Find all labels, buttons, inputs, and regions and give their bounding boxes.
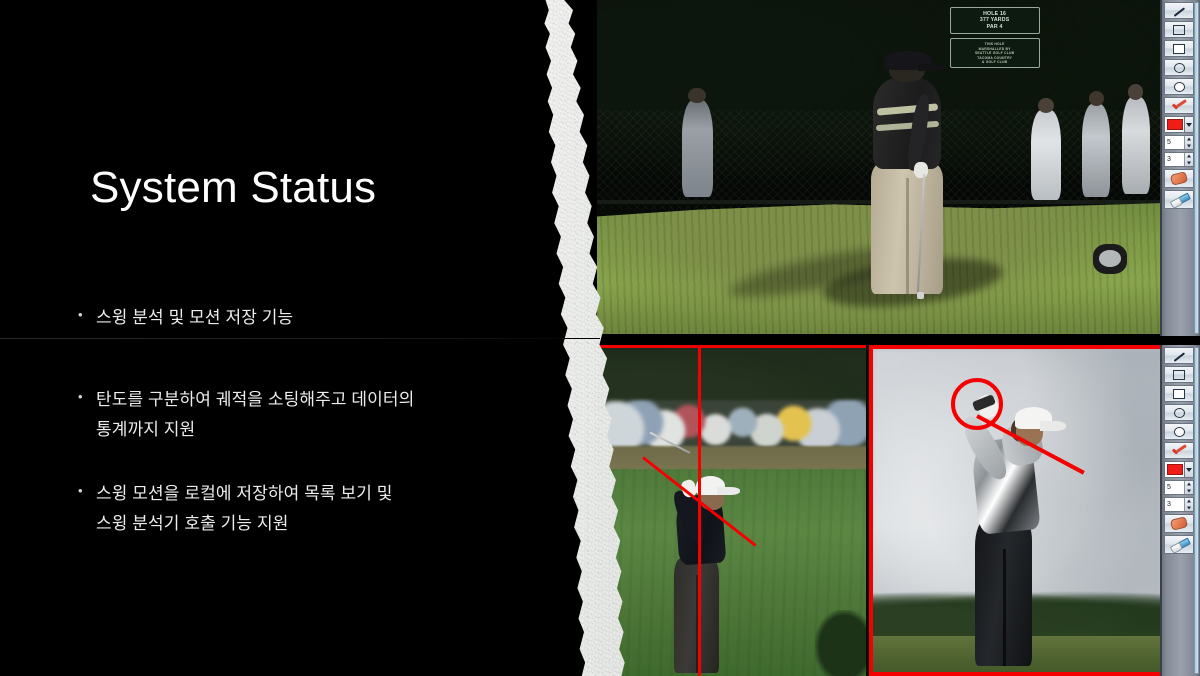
shape-weight-stepper[interactable]: 3 — [1164, 152, 1194, 167]
shape-weight-stepper[interactable]: 3 — [1164, 497, 1194, 512]
spectator — [682, 100, 713, 197]
hole-par-label: PAR 4 — [953, 24, 1037, 31]
course-hole-sign: HOLE 16 377 YARDS PAR 4 THIS HOLE MARSHA… — [950, 7, 1040, 73]
rectangle-tool-button[interactable] — [1164, 21, 1194, 38]
stepper-down-icon[interactable] — [1185, 505, 1193, 512]
list-item: • 스윙 모션을 로컬에 저장하여 목록 보기 및 스윙 분석기 호출 기능 지… — [78, 479, 548, 539]
filled-rectangle-tool-button[interactable] — [1164, 40, 1194, 57]
stepper-down-icon[interactable] — [1185, 143, 1193, 150]
checkmark-icon — [1171, 100, 1187, 112]
rectangle-outline-icon — [1173, 370, 1185, 380]
eraser-icon — [1171, 173, 1187, 184]
marshall-sign: THIS HOLE MARSHALLED BY SEATTLE GOLF CLU… — [950, 38, 1040, 68]
line-width-value: 5 — [1165, 136, 1184, 149]
eraser-icon — [1171, 518, 1187, 529]
shape-weight-value: 3 — [1165, 153, 1184, 166]
hands-highlight-circle-annotation[interactable] — [951, 378, 1003, 430]
circle-filled-icon — [1174, 82, 1185, 92]
filled-circle-tool-button[interactable] — [1164, 423, 1194, 440]
hole-yardage-label: 377 YARDS — [953, 17, 1037, 24]
filled-rectangle-tool-button[interactable] — [1164, 385, 1194, 402]
stepper-buttons[interactable] — [1184, 481, 1193, 494]
toolbar-scrollbar[interactable] — [1194, 2, 1199, 334]
bullet-marker: • — [78, 303, 96, 327]
circle-tool-button[interactable] — [1164, 404, 1194, 421]
spectator — [1031, 110, 1060, 200]
bullet-marker: • — [78, 385, 96, 409]
clear-tool-button[interactable] — [1164, 535, 1194, 554]
color-picker[interactable] — [1164, 116, 1194, 133]
toolbar-buttons: 5 3 — [1164, 347, 1194, 556]
circle-tool-button[interactable] — [1164, 59, 1194, 76]
slide-text-column: System Status • 스윙 분석 및 모션 저장 기능 • 탄도를 구… — [0, 0, 600, 676]
rectangle-filled-icon — [1173, 389, 1185, 399]
golf-glove — [914, 162, 928, 179]
golf-bag — [1093, 244, 1127, 274]
page-title: System Status — [90, 164, 376, 212]
cap-brim — [717, 487, 740, 496]
bullet-marker: • — [78, 479, 96, 503]
list-item: • 탄도를 구분하여 궤적을 소팅해주고 데이터의 통계까지 지원 — [78, 385, 548, 445]
down-the-line-swing-panel — [597, 345, 869, 676]
checkmark-icon — [1171, 445, 1187, 457]
line-icon — [1172, 348, 1187, 363]
spectator — [1122, 97, 1150, 194]
golfer-at-address — [862, 53, 952, 293]
club-head — [917, 292, 924, 299]
eraser-tool-button[interactable] — [1164, 514, 1194, 533]
color-swatch[interactable] — [1167, 119, 1183, 130]
color-swatch[interactable] — [1167, 464, 1183, 475]
tee-shot-capture-panel: HOLE 16 377 YARDS PAR 4 THIS HOLE MARSHA… — [597, 0, 1200, 336]
line-tool-button[interactable] — [1164, 347, 1194, 364]
line-tool-button[interactable] — [1164, 2, 1194, 19]
panel-separator — [866, 345, 869, 676]
rectangle-filled-icon — [1173, 44, 1185, 54]
eraser-tool-button[interactable] — [1164, 169, 1194, 188]
bullet-text: 스윙 모션을 로컬에 저장하여 목록 보기 및 스윙 분석기 호출 기능 지원 — [96, 479, 393, 539]
line-width-stepper[interactable]: 5 — [1164, 480, 1194, 495]
stepper-down-icon[interactable] — [1185, 488, 1193, 495]
spectator — [1082, 104, 1110, 198]
gallery-crowd — [600, 400, 869, 452]
rectangle-outline-icon — [1173, 25, 1185, 35]
face-on-backswing-panel — [869, 345, 1166, 676]
stepper-buttons[interactable] — [1184, 153, 1193, 166]
color-dropdown-button[interactable] — [1185, 116, 1194, 133]
golfer-leg-split — [1003, 549, 1006, 665]
vertical-alignment-line-annotation[interactable] — [698, 348, 701, 676]
cap-brim — [918, 64, 945, 71]
cap-brim — [1040, 421, 1066, 431]
color-swatch-box[interactable] — [1164, 116, 1185, 133]
brush-icon — [1171, 539, 1188, 551]
toolbar-scrollbar[interactable] — [1194, 347, 1199, 674]
circle-outline-icon — [1174, 408, 1185, 418]
clear-tool-button[interactable] — [1164, 190, 1194, 209]
color-picker[interactable] — [1164, 461, 1194, 478]
line-icon — [1172, 3, 1187, 18]
circle-outline-icon — [1174, 63, 1185, 73]
toolbar-buttons: 5 3 — [1164, 2, 1194, 211]
golfer-leg-split — [906, 178, 909, 293]
check-tool-button[interactable] — [1164, 442, 1194, 459]
line-width-stepper[interactable]: 5 — [1164, 135, 1194, 150]
circle-filled-icon — [1174, 427, 1185, 437]
brush-icon — [1171, 194, 1188, 206]
stepper-down-icon[interactable] — [1185, 160, 1193, 167]
line-width-value: 5 — [1165, 481, 1184, 494]
color-dropdown-button[interactable] — [1185, 461, 1194, 478]
drawing-toolbar-top: 5 3 — [1160, 0, 1200, 336]
chevron-down-icon — [1186, 468, 1192, 472]
tee-shot-video: HOLE 16 377 YARDS PAR 4 THIS HOLE MARSHA… — [597, 0, 1161, 334]
list-item: • 스윙 분석 및 모션 저장 기능 — [78, 303, 548, 333]
rectangle-tool-button[interactable] — [1164, 366, 1194, 383]
bullet-list: • 스윙 분석 및 모션 저장 기능 • 탄도를 구분하여 궤적을 소팅해주고 … — [78, 303, 548, 539]
check-tool-button[interactable] — [1164, 97, 1194, 114]
stepper-buttons[interactable] — [1184, 498, 1193, 511]
hole-number-label: HOLE 16 — [953, 11, 1037, 18]
presentation-slide: System Status • 스윙 분석 및 모션 저장 기능 • 탄도를 구… — [0, 0, 1200, 676]
foreground-bush — [815, 610, 869, 676]
bullet-text: 스윙 분석 및 모션 저장 기능 — [96, 303, 293, 333]
shape-weight-value: 3 — [1165, 498, 1184, 511]
filled-circle-tool-button[interactable] — [1164, 78, 1194, 95]
chevron-down-icon — [1186, 123, 1192, 127]
drawing-toolbar-bottom: 5 3 — [1160, 345, 1200, 676]
color-swatch-box[interactable] — [1164, 461, 1185, 478]
bullet-text: 탄도를 구분하여 궤적을 소팅해주고 데이터의 통계까지 지원 — [96, 385, 414, 445]
toolbar-gap — [1160, 336, 1200, 345]
marshall-line: & GOLF CLUB — [953, 60, 1037, 64]
hole-info-sign: HOLE 16 377 YARDS PAR 4 — [950, 7, 1040, 35]
stepper-buttons[interactable] — [1184, 136, 1193, 149]
